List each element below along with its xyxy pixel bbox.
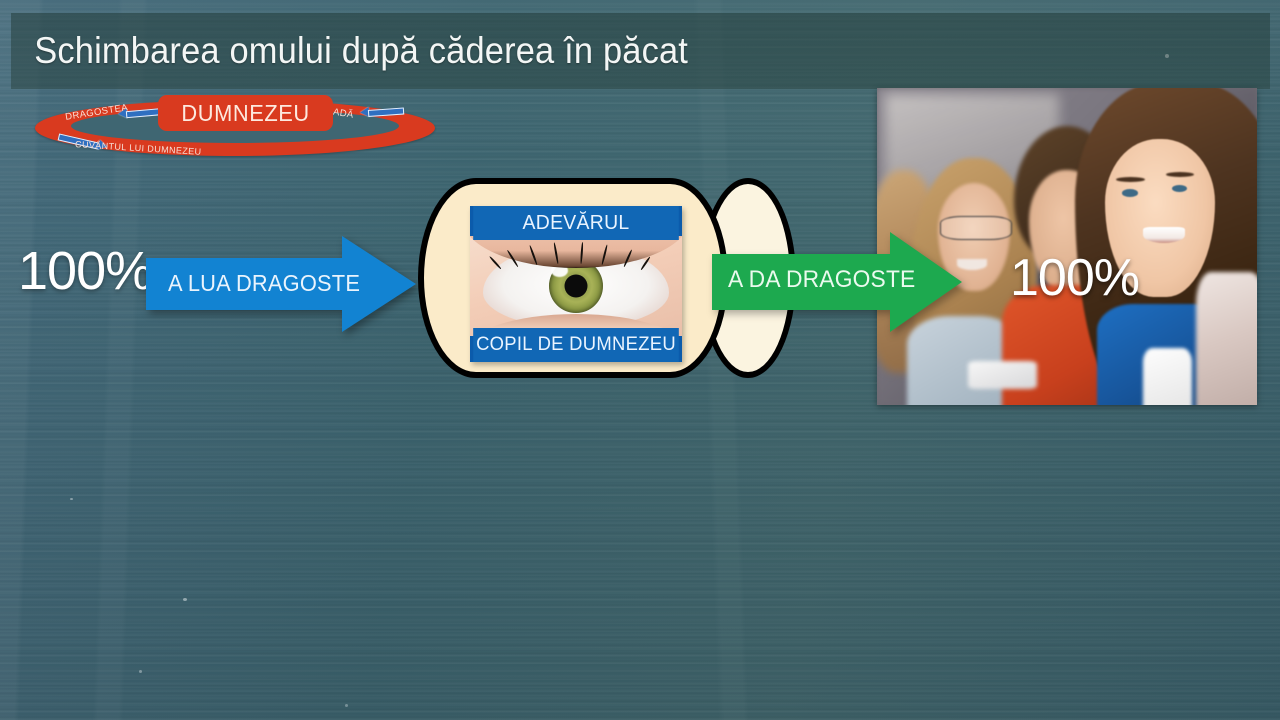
photo-eye bbox=[1122, 189, 1138, 197]
give-love-label: A DA DRAGOSTE bbox=[728, 266, 915, 294]
god-label: DUMNEZEU bbox=[181, 100, 309, 127]
output-percent: 100% bbox=[1010, 248, 1139, 308]
eye-photo bbox=[470, 236, 682, 336]
slide-canvas: Schimbarea omului după căderea în păcat … bbox=[0, 0, 1280, 720]
eye-card: ADEVĂRUL bbox=[470, 206, 682, 362]
take-love-arrow: A LUA DRAGOSTE bbox=[146, 236, 416, 332]
god-cycle-diagram: DRAGOSTEA ROADĂ CUVÂNTUL LUI DUMNEZEU DU… bbox=[30, 95, 440, 165]
god-center-box: DUMNEZEU bbox=[158, 95, 333, 131]
photo-person-front-scarf bbox=[1196, 272, 1257, 405]
photo-phone bbox=[968, 361, 1036, 390]
cylinder-body: ADEVĂRUL bbox=[418, 178, 728, 378]
chalk-speck bbox=[139, 670, 142, 673]
eye-pupil bbox=[565, 275, 588, 298]
take-love-label: A LUA DRAGOSTE bbox=[168, 270, 358, 297]
child-of-god-label: COPIL DE DUMNEZEU bbox=[473, 328, 679, 362]
give-love-arrow: A DA DRAGOSTE bbox=[712, 232, 962, 332]
photo-eyebrow bbox=[1116, 177, 1145, 182]
page-title: Schimbarea omului după căderea în păcat bbox=[11, 30, 688, 72]
truth-label: ADEVĂRUL bbox=[473, 206, 679, 240]
chalk-speck bbox=[183, 598, 187, 601]
chalk-speck bbox=[345, 704, 348, 707]
title-band: Schimbarea omului după căderea în păcat bbox=[11, 13, 1270, 89]
photo-person-front-inner-shirt bbox=[1143, 348, 1192, 405]
chalk-speck bbox=[70, 498, 73, 500]
input-percent: 100% bbox=[18, 240, 152, 302]
